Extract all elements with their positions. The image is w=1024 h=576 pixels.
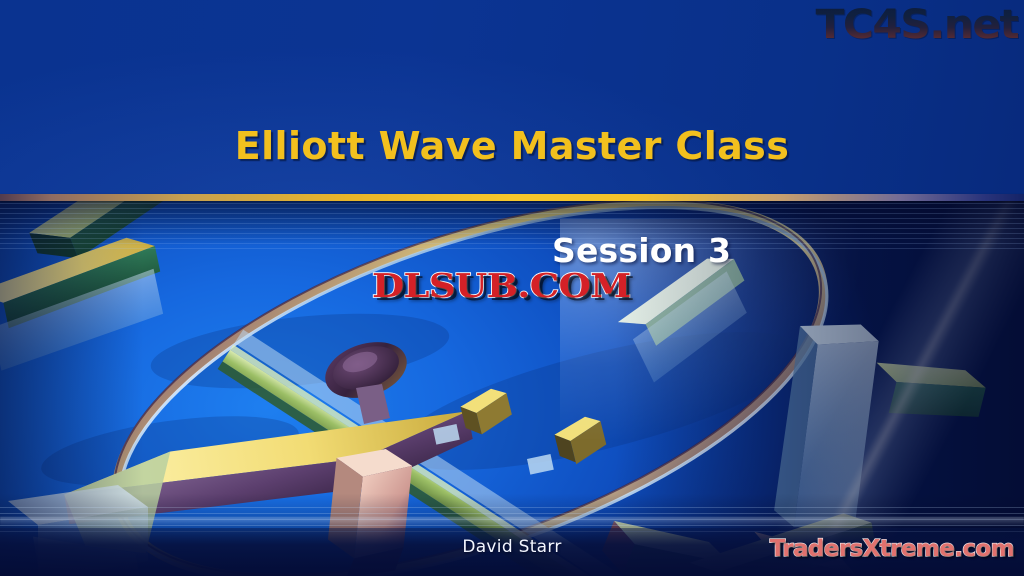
presentation-slide: TC4S.net Elliott Wave Master Class <box>0 0 1024 576</box>
tradersxtreme-logo: TradersXtreme.com <box>770 536 1014 562</box>
page-title: Elliott Wave Master Class <box>0 124 1024 168</box>
dlsub-watermark: DLSUB.COM <box>372 266 631 305</box>
abstract-3d-ring-icon <box>0 201 1024 576</box>
tc4s-watermark: TC4S.net <box>815 2 1018 48</box>
slide-artwork <box>0 201 1024 576</box>
gold-divider <box>0 194 1024 201</box>
session-label: Session 3 <box>552 231 731 270</box>
slide-header: TC4S.net Elliott Wave Master Class <box>0 0 1024 194</box>
